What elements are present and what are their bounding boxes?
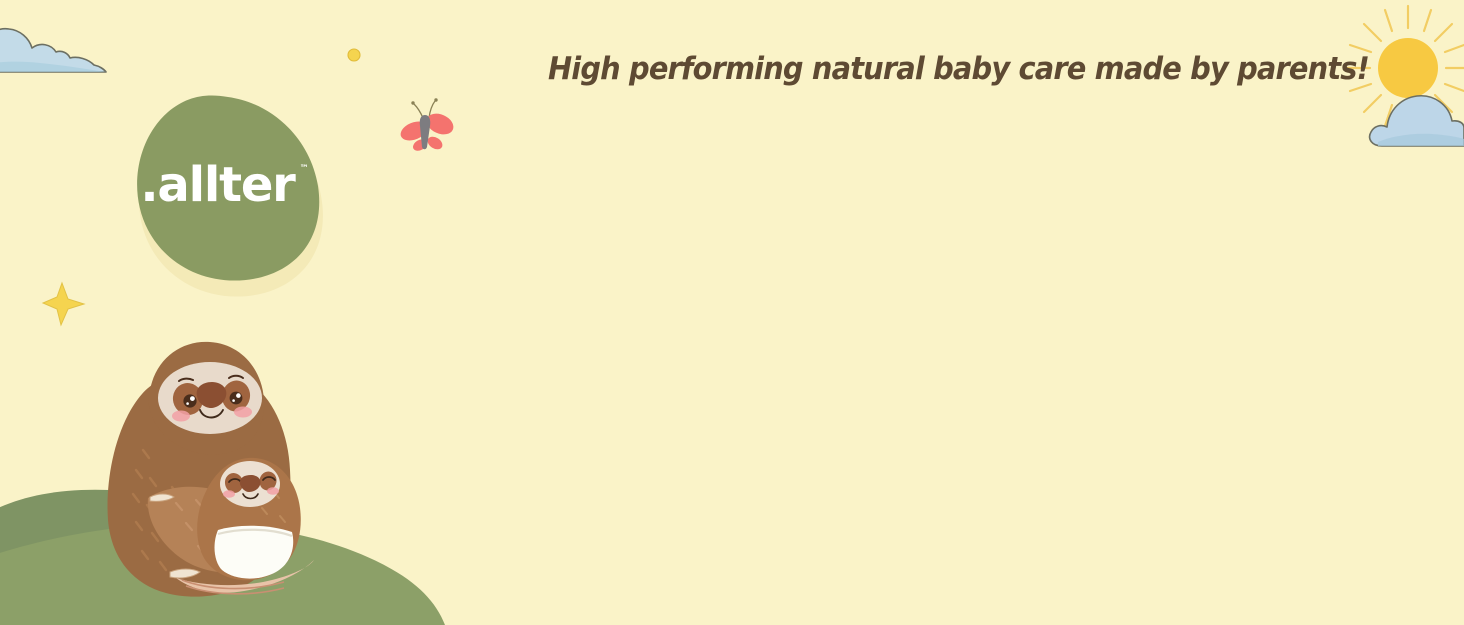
logo-wordmark: .allter™ [128,97,324,269]
promo-banner: .allter™ High performing natural baby ca… [0,0,1464,625]
brand-logo[interactable]: .allter™ [128,97,324,269]
logo-text: .allter [140,157,294,213]
sun-disc [1378,38,1438,98]
trademark-icon: ™ [300,164,309,174]
tagline-text: High performing natural baby care made b… [548,51,1273,87]
small-dot-icon [348,49,360,61]
scene-illustration [0,0,1464,625]
